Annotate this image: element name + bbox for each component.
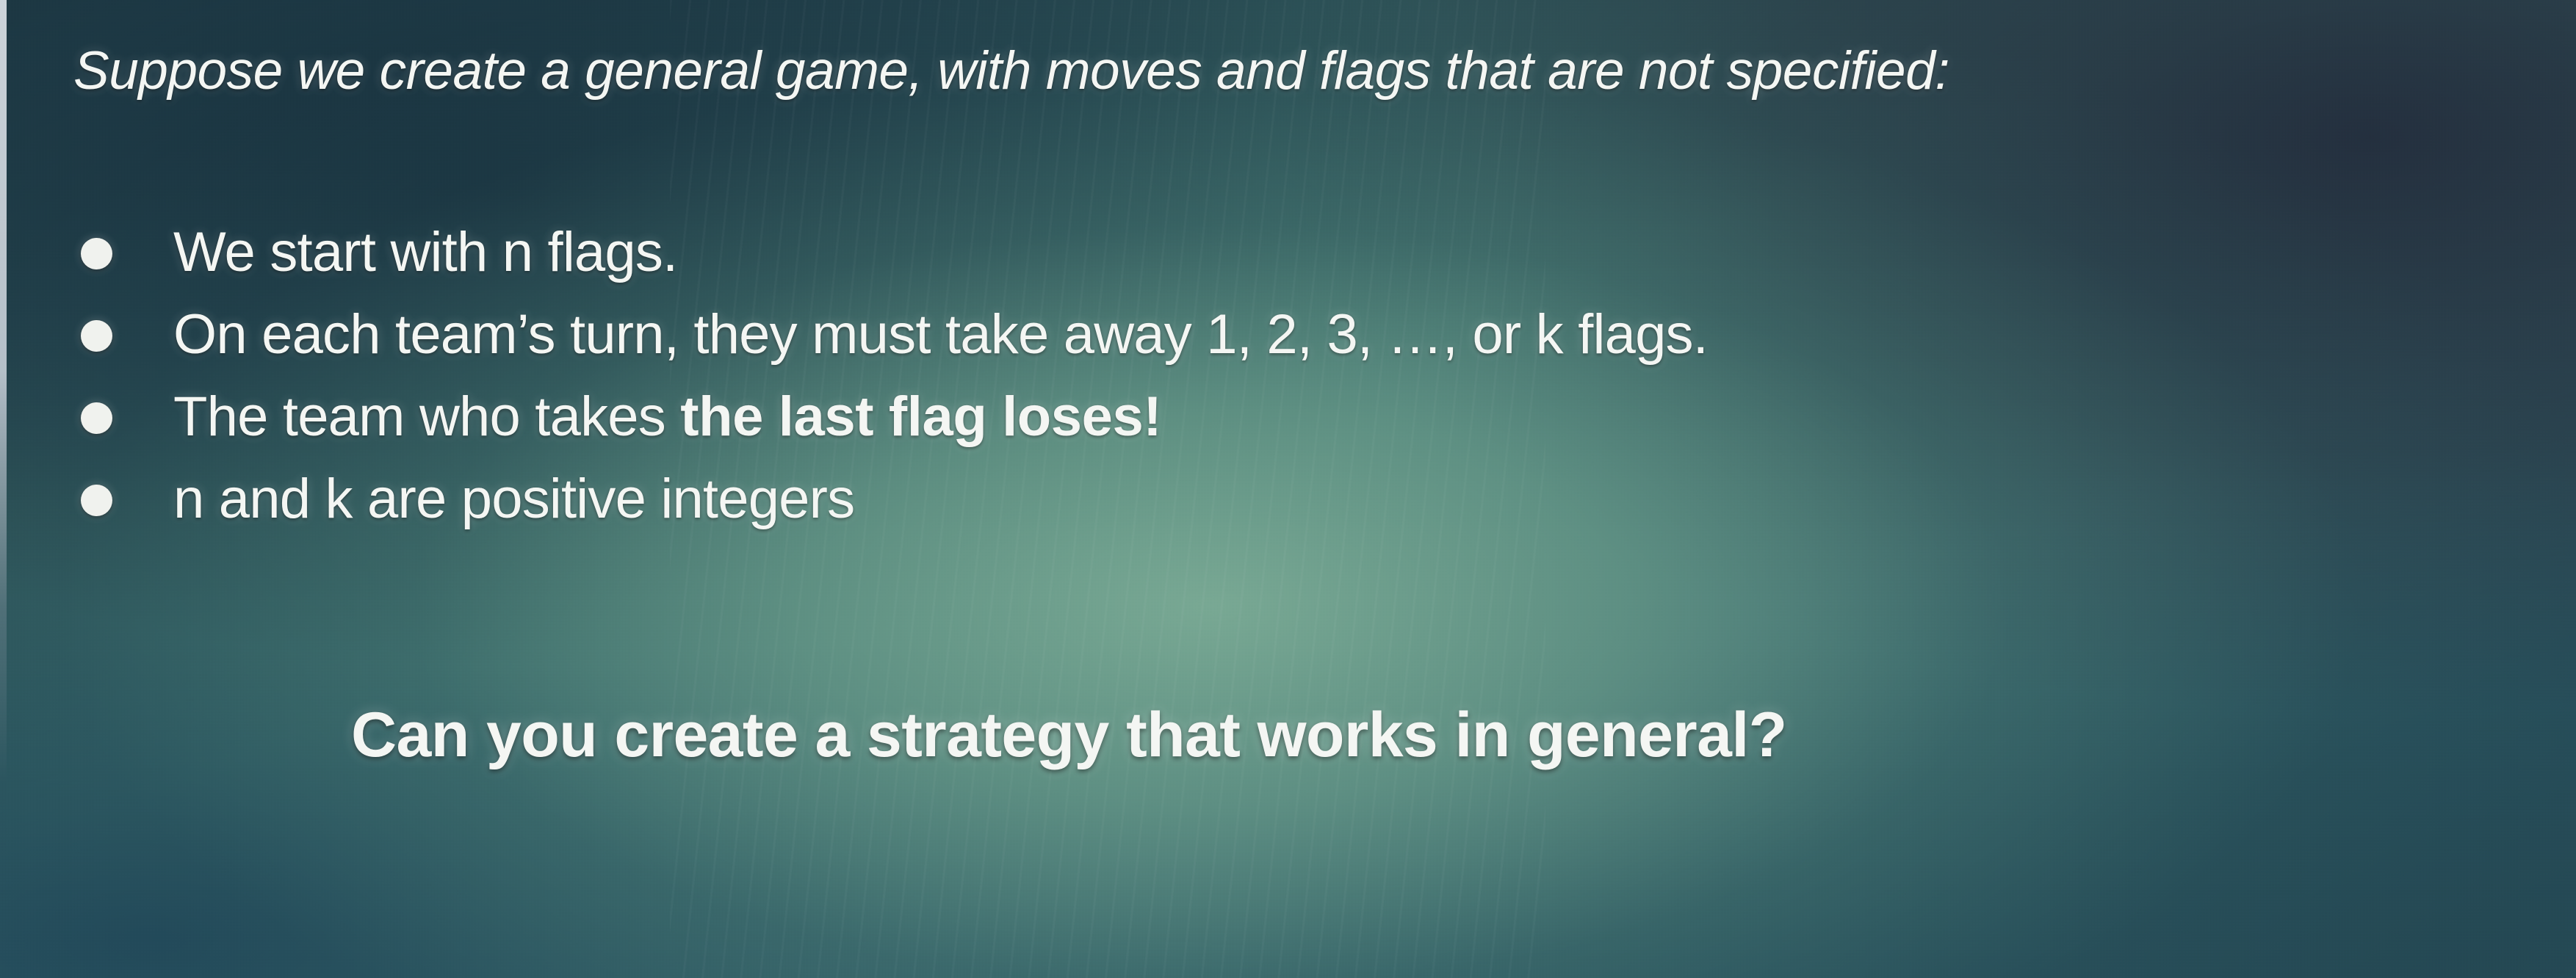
- bullet-dot-icon: [81, 402, 112, 434]
- bullet-item-label-4: n and k are positive integers: [173, 458, 854, 540]
- bullet-dot-icon: [81, 238, 112, 269]
- lead-statement: Suppose we create a general game, with m…: [73, 40, 1949, 101]
- bullet-item-label-2: On each team’s turn, they must take away…: [173, 294, 1708, 376]
- bullet-text-plain-1: We start with n flags.: [173, 221, 677, 283]
- slide-content: Suppose we create a general game, with m…: [0, 0, 2576, 978]
- list-item: n and k are positive integers: [0, 458, 173, 540]
- list-item: On each team’s turn, they must take away…: [0, 294, 173, 376]
- list-item: The team who takes the last flag loses!: [0, 376, 173, 458]
- closing-question: Can you create a strategy that works in …: [351, 699, 1787, 772]
- bullet-text-plain-4: n and k are positive integers: [173, 468, 854, 530]
- bullet-text-bold-3: the last flag loses!: [680, 385, 1161, 448]
- bullet-item-label-3: The team who takes the last flag loses!: [173, 376, 1161, 458]
- bullet-text-plain-2: On each team’s turn, they must take away…: [173, 303, 1708, 366]
- bullet-text-plain-3: The team who takes: [173, 385, 680, 448]
- bullet-item-label-1: We start with n flags.: [173, 211, 677, 294]
- bullet-list: We start with n flags. On each team’s tu…: [0, 211, 173, 540]
- bullet-dot-icon: [81, 320, 112, 352]
- list-item: We start with n flags.: [0, 211, 173, 294]
- presentation-slide: Suppose we create a general game, with m…: [0, 0, 2576, 978]
- bullet-dot-icon: [81, 485, 112, 516]
